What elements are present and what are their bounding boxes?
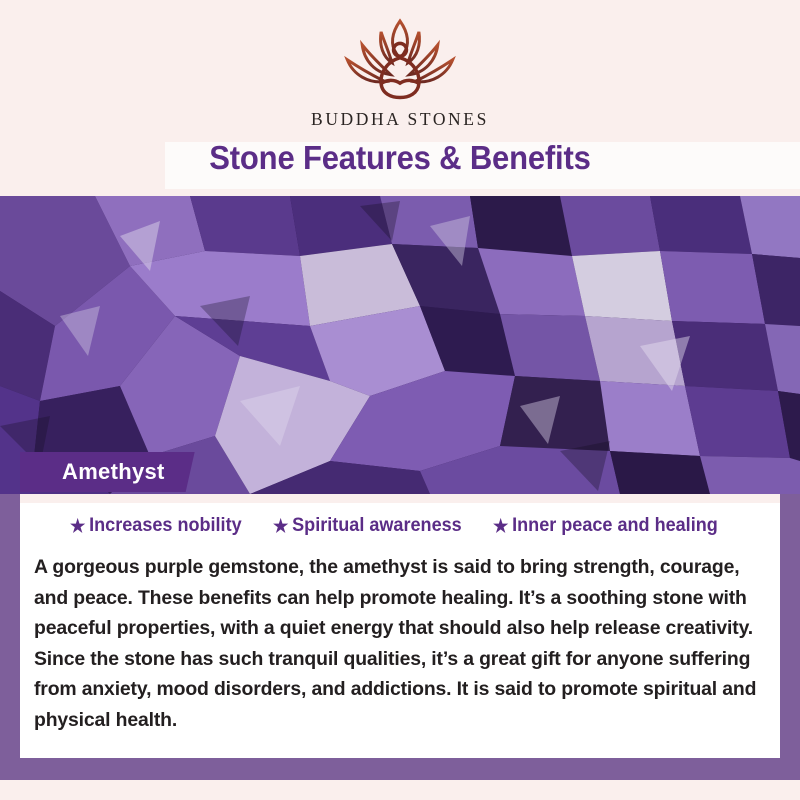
star-icon: ★: [70, 517, 85, 535]
panel-top-strip: [20, 494, 780, 503]
amethyst-hero-image: [0, 196, 800, 494]
feature-list: ★ Increases nobility ★ Spiritual awarene…: [20, 515, 780, 537]
star-icon: ★: [273, 517, 288, 535]
bottom-cream-strip: [0, 780, 800, 800]
stone-name-label: Amethyst: [62, 459, 165, 485]
bottom-left-accent: [0, 758, 20, 780]
page-title: Stone Features & Benefits: [24, 139, 776, 177]
feature-item: ★ Increases nobility: [70, 515, 242, 537]
brand-logo: BUDDHA STONES: [0, 14, 800, 130]
feature-item: ★ Inner peace and healing: [493, 515, 718, 537]
feature-item: ★ Spiritual awareness: [273, 515, 462, 537]
feature-label: Inner peace and healing: [512, 515, 718, 537]
stone-name-banner: Amethyst: [20, 452, 195, 492]
lotus-meditation-icon: [325, 14, 475, 106]
stone-info-card: BUDDHA STONES Stone Features & Benefits: [0, 0, 800, 800]
feature-label: Increases nobility: [89, 515, 241, 537]
stone-details-panel: ★ Increases nobility ★ Spiritual awarene…: [20, 494, 780, 758]
stone-description: A gorgeous purple gemstone, the amethyst…: [34, 552, 774, 735]
brand-name: BUDDHA STONES: [0, 109, 800, 130]
star-icon: ★: [493, 517, 508, 535]
feature-label: Spiritual awareness: [292, 515, 462, 537]
